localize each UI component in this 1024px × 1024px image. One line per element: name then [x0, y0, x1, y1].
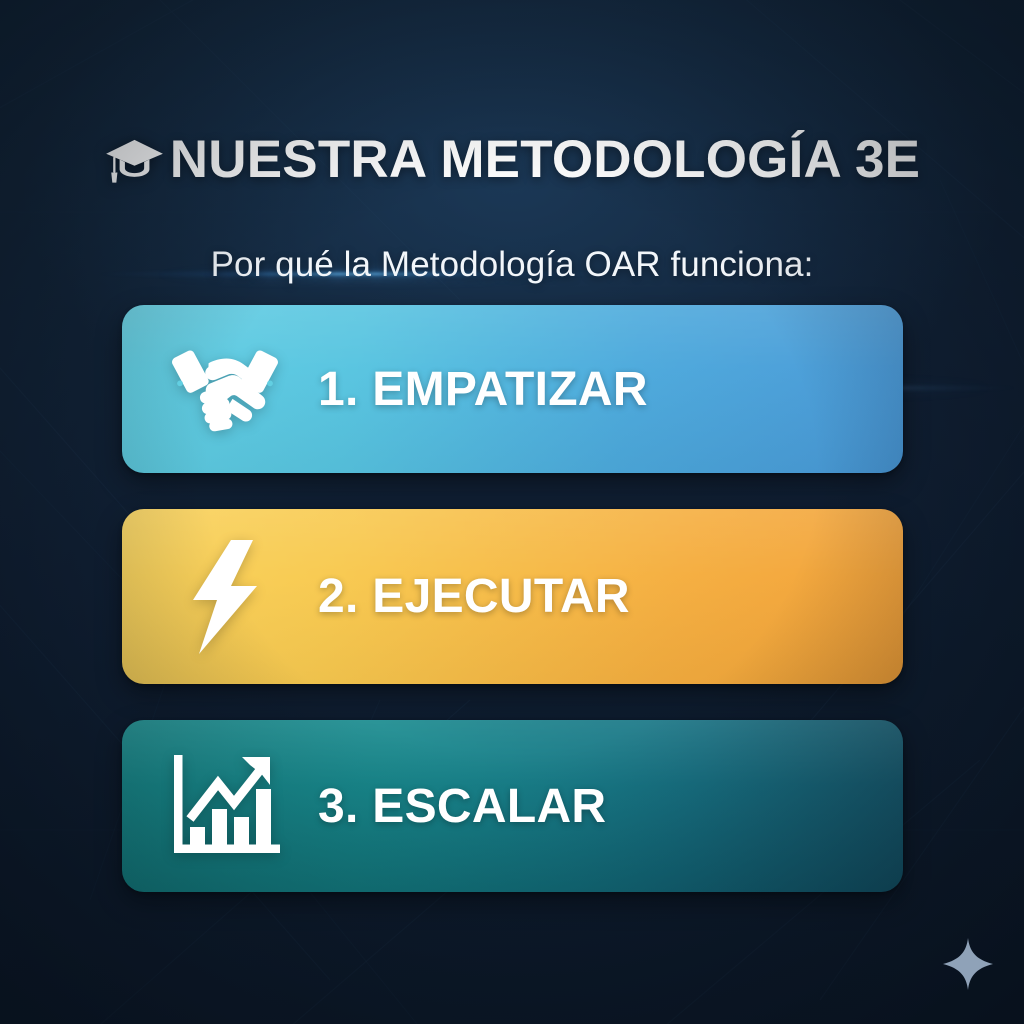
poster-header: NUESTRA METODOLOGÍA 3E Por qué la Metodo… [0, 96, 1024, 285]
page-subtitle: Por qué la Metodología OAR funciona: [0, 245, 1024, 285]
page-title: NUESTRA METODOLOGÍA 3E [170, 132, 920, 188]
growth-chart-icon [150, 751, 300, 861]
four-point-star-icon [943, 938, 993, 990]
title-row: NUESTRA METODOLOGÍA 3E [0, 96, 1024, 223]
lightning-bolt-icon [150, 538, 300, 656]
step-label-2: 2. EJECUTAR [318, 569, 630, 624]
methodology-steps-list: 1. EMPATIZAR 2. EJECUTAR [122, 305, 903, 892]
graduation-cap-icon [104, 132, 166, 186]
step-label-3: 3. ESCALAR [318, 779, 606, 834]
methodology-poster: NUESTRA METODOLOGÍA 3E Por qué la Metodo… [0, 0, 1024, 1024]
step-card-ejecutar[interactable]: 2. EJECUTAR [122, 509, 903, 684]
step-card-escalar[interactable]: 3. ESCALAR [122, 720, 903, 892]
handshake-icon [150, 341, 300, 437]
step-label-1: 1. EMPATIZAR [318, 362, 648, 417]
step-card-empatizar[interactable]: 1. EMPATIZAR [122, 305, 903, 473]
